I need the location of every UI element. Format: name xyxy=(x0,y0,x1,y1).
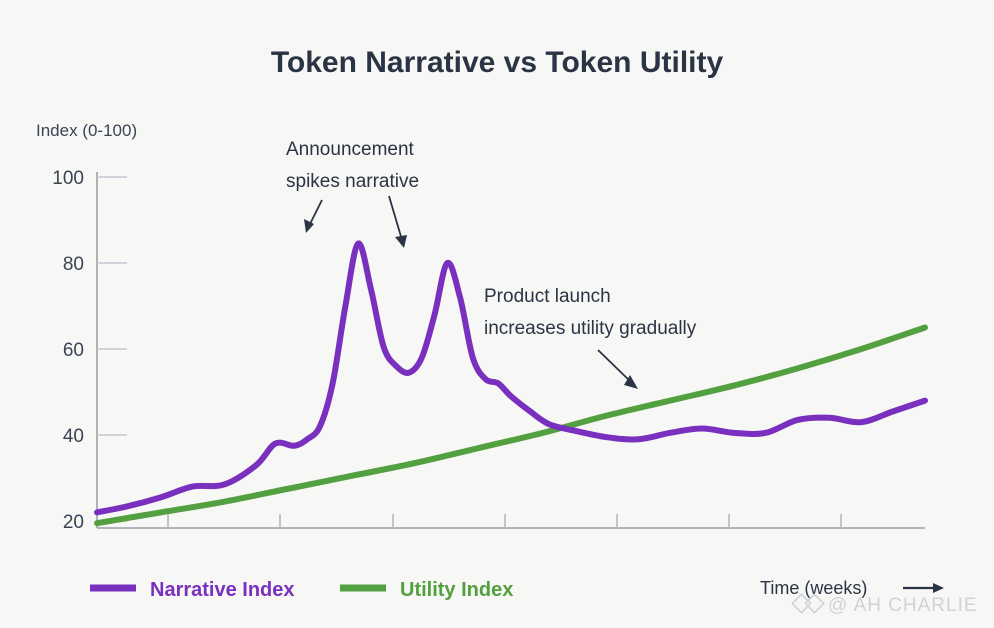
chart-title: Token Narrative vs Token Utility xyxy=(271,46,724,79)
y-tick-label-80: 80 xyxy=(63,254,84,275)
y-axis-label: Index (0-100) xyxy=(36,121,137,140)
legend-label-narrative: Narrative Index xyxy=(150,579,295,601)
y-tick-label-40: 40 xyxy=(63,426,84,447)
y-tick-label-60: 60 xyxy=(63,340,84,361)
watermark-text: @ AH CHARLIE xyxy=(828,595,978,616)
y-tick-label-100: 100 xyxy=(52,168,84,189)
announcement-annotation-line-1: Announcement xyxy=(286,139,415,160)
product-launch-annotation-line-1: Product launch xyxy=(484,286,611,307)
token-narrative-vs-utility-chart: Token Narrative vs Token Utility Index (… xyxy=(0,0,994,628)
legend-label-utility: Utility Index xyxy=(400,579,513,601)
announcement-annotation-line-2: spikes narrative xyxy=(286,171,419,192)
chart-container: Token Narrative vs Token Utility Index (… xyxy=(0,0,994,628)
product-launch-annotation-line-2: increases utility gradually xyxy=(484,318,697,339)
y-tick-label-20: 20 xyxy=(63,512,84,533)
chart-background xyxy=(0,0,994,628)
